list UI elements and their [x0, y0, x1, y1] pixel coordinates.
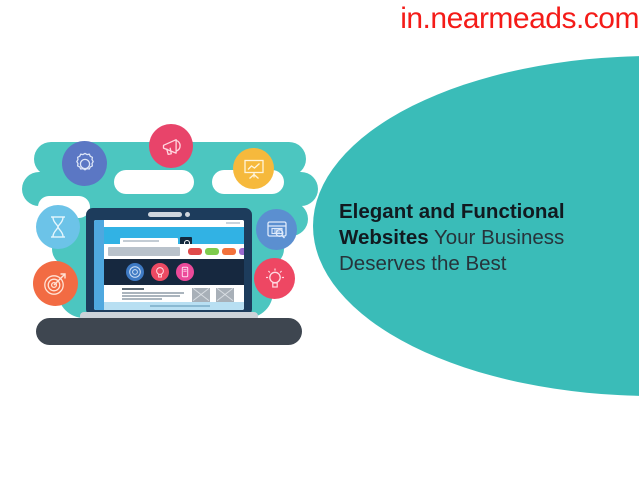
nav-placeholder-bar [108, 247, 180, 256]
laptop-lid [86, 208, 252, 316]
mobile-icon [176, 263, 194, 281]
lightbulb-icon [254, 258, 295, 299]
domain-watermark: in.nearmeads.com [400, 2, 639, 36]
browser-search-icon [256, 209, 297, 250]
hourglass-icon [36, 205, 80, 249]
laptop-camera [185, 212, 190, 217]
browser-title-bar [104, 220, 244, 227]
content-text-line [122, 295, 180, 297]
footer-line [150, 305, 210, 307]
screen-left-rail [94, 220, 104, 310]
target-icon [33, 261, 78, 306]
megaphone-icon [149, 124, 193, 168]
image-placeholder [192, 288, 210, 302]
browser-nav-band [104, 244, 244, 259]
nav-pill-green[interactable] [205, 248, 219, 255]
content-band [104, 285, 244, 302]
laptop-illustration [0, 0, 340, 479]
browser-search-band [104, 227, 244, 244]
nav-pill-red[interactable] [188, 248, 202, 255]
headline: Elegant and Functional Websites Your Bus… [339, 199, 609, 277]
laptop-device [86, 208, 252, 326]
chart-board-icon [233, 148, 274, 189]
image-placeholder [216, 288, 234, 302]
lightbulb-icon [151, 263, 169, 281]
blob-cutout-1 [114, 170, 194, 194]
gear-icon [62, 141, 107, 186]
content-text-line [122, 292, 184, 294]
laptop-screen [94, 220, 244, 310]
laptop-speaker [148, 212, 182, 217]
screen-footer-band [104, 302, 244, 310]
nav-pill-orange[interactable] [222, 248, 236, 255]
laptop-shadow [36, 318, 302, 345]
hero-band [104, 259, 244, 285]
content-text-line [122, 298, 162, 300]
gear-icon [126, 263, 144, 281]
content-heading-line [122, 288, 144, 290]
nav-pill-purple[interactable] [239, 248, 244, 255]
ad-banner: in.nearmeads.com [0, 0, 639, 479]
